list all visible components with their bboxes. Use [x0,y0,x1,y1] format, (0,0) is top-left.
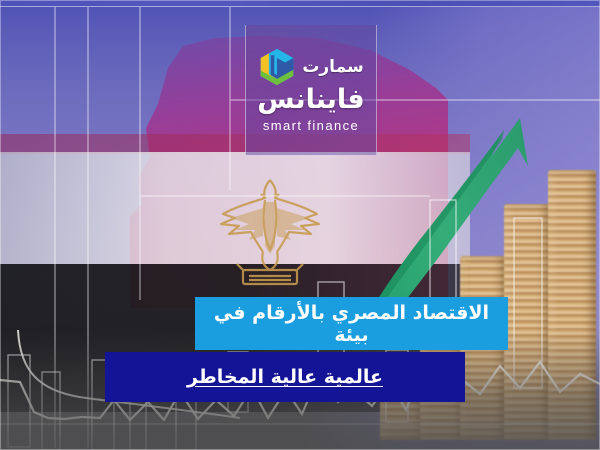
headline-banner-line-2: عالمية عالية المخاطر [105,352,465,402]
brand-logo-panel: سمارت فاينانس smart finance [245,25,377,155]
brand-logo-row: سمارت [258,47,363,87]
top-strip [0,0,600,7]
hexagon-u-logo-icon [258,47,296,87]
brand-arabic-finance: فاينانس [257,86,364,113]
headline-banner-line-1: الاقتصاد المصري بالأرقام في بيئة [195,297,508,350]
brand-arabic-smart: سمارت [302,59,363,76]
headline-text-line-1: الاقتصاد المصري بالأرقام في بيئة [195,302,508,346]
brand-english-tagline: smart finance [263,118,359,133]
news-card-image: سمارت فاينانس smart finance الاقتصاد الم… [0,0,600,450]
headline-text-line-2: عالمية عالية المخاطر [187,366,383,388]
